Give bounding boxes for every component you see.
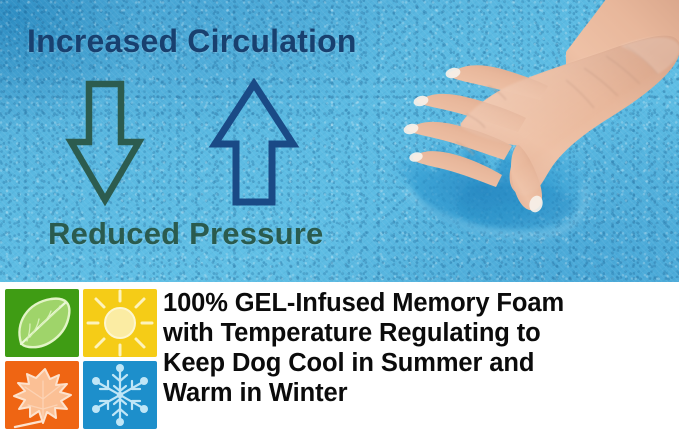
feature-line-3: Keep Dog Cool in Summer and — [163, 348, 675, 378]
down-arrow-glyph — [63, 78, 147, 208]
feature-line-2: with Temperature Regulating to — [163, 318, 675, 348]
feature-line-4: Warm in Winter — [163, 378, 675, 408]
sun-icon-glyph — [83, 289, 157, 357]
feature-description: 100% GEL-Infused Memory Foam with Temper… — [163, 288, 675, 408]
feature-line-1: 100% GEL-Infused Memory Foam — [163, 288, 675, 318]
up-arrow-glyph — [207, 78, 301, 208]
maple-leaf-icon-glyph — [5, 361, 79, 429]
autumn-maple-leaf-icon — [5, 361, 79, 429]
headline-reduced-pressure: Reduced Pressure — [48, 218, 323, 249]
headline-increased-circulation: Increased Circulation — [27, 25, 357, 57]
feature-panel: 100% GEL-Infused Memory Foam with Temper… — [0, 282, 679, 436]
spring-leaf-icon — [5, 289, 79, 357]
season-icon-grid — [5, 289, 157, 430]
down-arrow-icon — [63, 78, 147, 213]
product-infographic: Increased Circulation Reduced Pressure — [0, 0, 679, 436]
winter-snowflake-icon — [83, 361, 157, 429]
leaf-icon-glyph — [5, 289, 79, 357]
up-arrow-icon — [207, 78, 301, 213]
foam-photo-panel: Increased Circulation Reduced Pressure — [0, 0, 679, 282]
snowflake-icon-glyph — [83, 361, 157, 429]
summer-sun-icon — [83, 289, 157, 357]
